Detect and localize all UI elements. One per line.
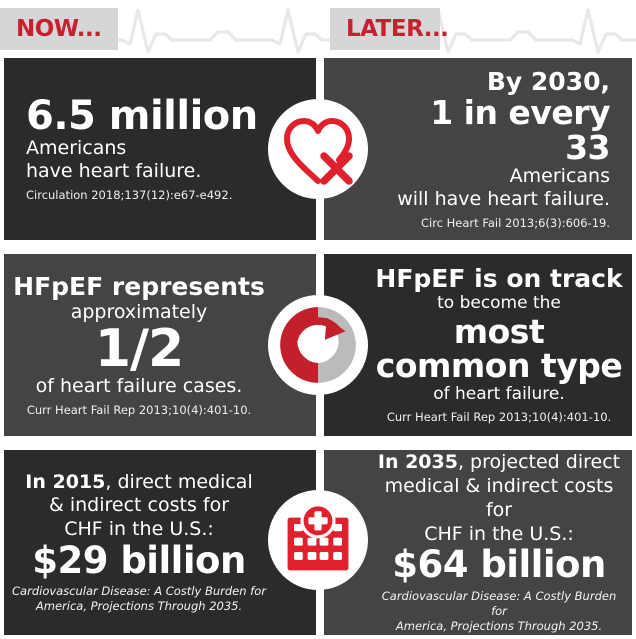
now-cost-lead-rest: , direct medical [105, 471, 252, 493]
now-prevalence-line2: Americans [26, 137, 258, 160]
heart-with-x-glyph [279, 112, 357, 186]
later-hfpef-headline2: common type [374, 349, 624, 384]
now-hfpef-citation: Curr Heart Fail Rep 2013;10(4):401-10. [12, 403, 266, 417]
later-cost-line2: medical & indirect costs for [374, 475, 624, 523]
now-prevalence-headline: 6.5 million [26, 96, 258, 137]
later-prevalence-line4: will have heart failure. [382, 188, 610, 211]
now-prevalence-citation: Circulation 2018;137(12):e67-e492. [26, 188, 258, 202]
now-prevalence-line3: have heart failure. [26, 160, 258, 183]
now-cost-headline: $29 billion [12, 542, 266, 580]
panel-later-hfpef: HFpEF is on track to become the most com… [324, 254, 632, 436]
hospital-building-cross-icon [268, 490, 368, 590]
half-donut-arrow-glyph [275, 302, 361, 388]
later-prevalence-headline: 1 in every 33 [382, 96, 610, 165]
later-cost-lead: In 2035, projected direct [374, 451, 624, 475]
now-cost-citation-line1: Cardiovascular Disease: A Costly Burden … [12, 584, 266, 599]
now-hfpef-line4: of heart failure cases. [12, 375, 266, 398]
later-cost-citation-line1: Cardiovascular Disease: A Costly Burden … [374, 589, 624, 619]
tag-now: NOW... [0, 8, 118, 50]
panel-later-prevalence: By 2030, 1 in every 33 Americans will ha… [324, 58, 632, 240]
now-cost-line2: & indirect costs for [12, 494, 266, 518]
now-cost-lead: In 2015, direct medical [12, 471, 266, 495]
now-hfpef-headline: 1/2 [12, 324, 266, 375]
infographic-canvas: NOW... LATER... 6.5 million Americans ha… [0, 0, 636, 639]
later-prevalence-line3: Americans [382, 165, 610, 188]
later-cost-lead-bold: In 2035 [378, 451, 458, 473]
later-hfpef-citation: Curr Heart Fail Rep 2013;10(4):401-10. [374, 410, 624, 424]
later-hfpef-line1: HFpEF is on track [374, 265, 624, 293]
now-hfpef-line1: HFpEF represents [12, 273, 266, 301]
header-strip: NOW... LATER... [0, 0, 636, 58]
tag-later-label: LATER... [330, 18, 462, 41]
tag-now-label: NOW... [0, 18, 116, 41]
later-prevalence-line1: By 2030, [382, 68, 610, 96]
later-cost-headline: $64 billion [374, 546, 624, 584]
later-prevalence-citation: Circ Heart Fail 2013;6(3):606-19. [382, 216, 610, 230]
hospital-building-glyph [278, 500, 358, 580]
now-cost-lead-bold: In 2015 [25, 471, 105, 493]
half-donut-arrow-icon [268, 295, 368, 395]
tag-later: LATER... [330, 8, 440, 50]
panel-later-cost: In 2035, projected direct medical & indi… [324, 450, 632, 635]
later-cost-citation-line2: America, Projections Through 2035. [374, 619, 624, 634]
later-hfpef-headline1: most [374, 315, 624, 350]
later-hfpef-line5: of heart failure. [374, 384, 624, 405]
heart-with-x-icon [268, 99, 368, 199]
now-cost-citation-line2: America, Projections Through 2035. [12, 599, 266, 614]
later-cost-lead-rest: , projected direct [458, 451, 620, 473]
